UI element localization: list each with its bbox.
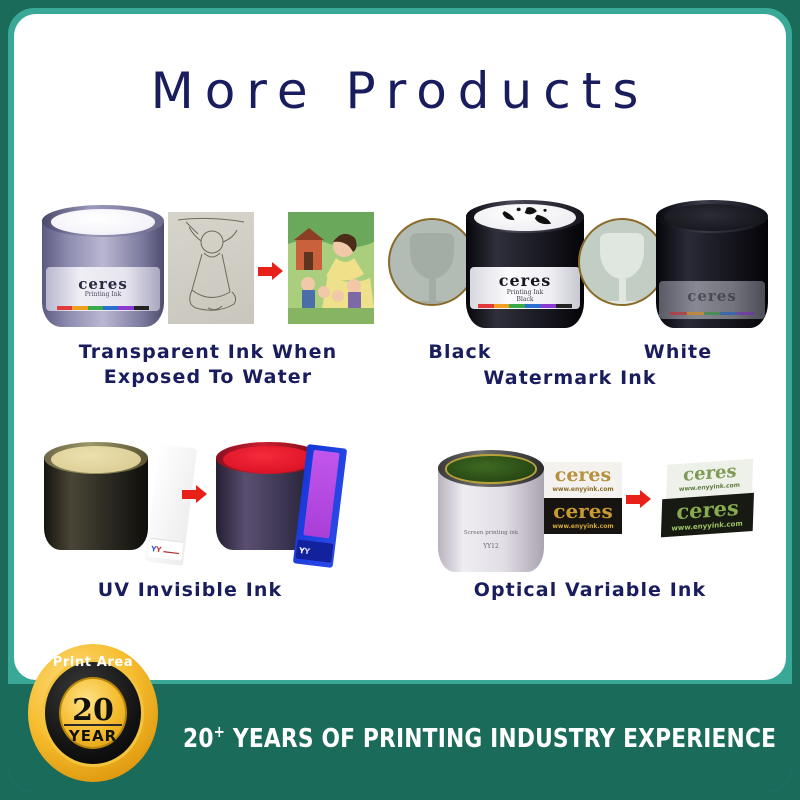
bucket-label-line-1: Screen printing ink	[438, 530, 544, 536]
badge-divider	[64, 724, 121, 726]
caption-line-2: Exposed To Water	[42, 365, 374, 390]
banner-years-number: 20	[183, 724, 214, 754]
bucket-brand: ceres	[659, 287, 764, 305]
transform-arrow-2	[182, 485, 207, 503]
bucket-sub: Printing Ink	[46, 291, 161, 298]
transparent-ink-bucket: ceres Printing Ink	[42, 205, 164, 327]
ink-surface	[51, 446, 140, 473]
banner-plus-sign: +	[214, 722, 225, 741]
ovi-bucket: Screen printing ink YY12	[438, 450, 544, 572]
caption-black: Black	[390, 340, 530, 365]
page-title: More Products	[0, 62, 800, 120]
ovi-cards-after: ceres www.enyyink.com ceres www.enyyink.…	[661, 459, 755, 540]
svg-text:Y: Y	[303, 547, 311, 557]
box-logo: Y Y	[296, 540, 333, 563]
bucket-brand: ceres	[470, 271, 581, 290]
card-brand: ceres	[544, 499, 622, 523]
ink-splash-graphic	[474, 204, 576, 231]
bucket-variant: Black	[470, 296, 581, 303]
badge-arc-text: Print Area	[28, 655, 158, 670]
ink-surface	[474, 204, 576, 231]
card-url: www.enyyink.com	[544, 523, 622, 530]
box-logo: Y Y	[148, 538, 184, 561]
bucket-label: ceres	[659, 281, 764, 318]
bucket-label: ceres Printing Ink	[46, 267, 161, 311]
svg-text:Y: Y	[155, 545, 163, 555]
badge-unit: YEAR	[28, 727, 158, 745]
bucket-label-line-2: YY12	[438, 543, 544, 550]
transform-arrow-1	[258, 262, 283, 280]
color-swatch-bar	[670, 312, 754, 315]
ink-surface	[51, 209, 156, 235]
uv-ink-can-before	[44, 442, 148, 550]
ink-surface	[223, 446, 314, 473]
before-image-line-drawing	[168, 212, 254, 324]
wine-glass-icon	[410, 233, 454, 306]
card-brand: ceres	[544, 464, 622, 486]
transform-arrow-3	[626, 490, 651, 508]
colored-illustration-svg	[288, 212, 374, 324]
bucket-label: ceres Printing Ink Black	[470, 267, 581, 309]
ink-surface	[445, 454, 536, 483]
anniversary-badge: Print Area 20 YEAR	[28, 644, 158, 782]
caption-optical-variable-ink: Optical Variable Ink	[430, 578, 750, 603]
wine-glass-icon	[600, 233, 644, 306]
color-swatch-bar	[57, 306, 149, 310]
logo-mark-icon: Y Y	[148, 539, 183, 561]
color-swatch-bar	[478, 304, 571, 308]
caption-line-1: Transparent Ink When	[42, 340, 374, 365]
caption-white: White	[608, 340, 748, 365]
caption-watermark-ink: Watermark Ink	[430, 366, 710, 391]
banner-headline: 20+ YEARS OF PRINTING INDUSTRY EXPERIENC…	[183, 722, 776, 754]
card-url: www.enyyink.com	[544, 486, 622, 493]
banner-headline-rest: YEARS OF PRINTING INDUSTRY EXPERIENCE	[233, 724, 776, 754]
watermark-circle-black	[388, 218, 476, 306]
watermark-circle-white	[578, 218, 666, 306]
ovi-card-before-dark: ceres www.enyyink.com	[544, 498, 622, 534]
bucket-brand: ceres	[46, 275, 161, 293]
caption-uv-invisible-ink: UV Invisible Ink	[40, 578, 340, 603]
black-ink-bucket: ceres Printing Ink Black	[466, 200, 584, 328]
caption-transparent-ink: Transparent Ink When Exposed To Water	[42, 340, 374, 391]
ovi-card-before-light: ceres www.enyyink.com	[544, 462, 622, 498]
line-drawing-svg	[168, 212, 254, 324]
poster-root: More Products ceres Printing Ink	[0, 0, 800, 800]
logo-mark-icon: Y Y	[296, 540, 333, 563]
ovi-card-after-dark: ceres www.enyyink.com	[661, 493, 754, 538]
after-image-colored-illustration	[288, 212, 374, 324]
badge-number: 20	[28, 696, 158, 726]
white-ink-bucket: ceres	[656, 200, 768, 328]
